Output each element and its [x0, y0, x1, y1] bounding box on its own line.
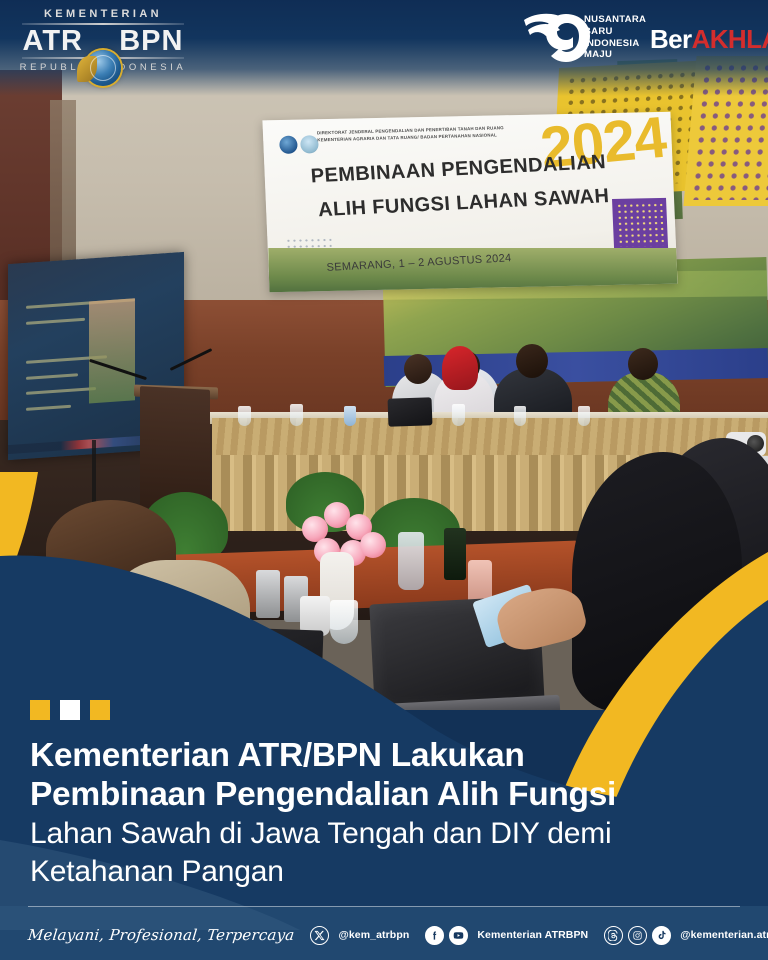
tiktok-icon[interactable]: [652, 926, 671, 945]
ministry-acronym-atr: ATR: [23, 25, 83, 57]
anniversary-line-1: BARU: [584, 26, 646, 38]
ministry-acronym: ATR .. BPN: [18, 26, 188, 56]
headline-light-line-2: Ketahanan Pangan: [30, 854, 730, 890]
anniversary-line-0: NUSANTARA: [584, 14, 646, 26]
berakhlak-ber: Ber: [650, 24, 692, 54]
event-photo: DIREKTORAT JENDERAL PENGENDALIAN DAN PEN…: [0, 0, 768, 710]
ministry-label-top: KEMENTERIAN: [18, 8, 188, 20]
marker-square-1: [30, 700, 50, 720]
event-banner: DIREKTORAT JENDERAL PENGENDALIAN DAN PEN…: [262, 112, 677, 292]
headline-bold-line-2: Pembinaan Pengendalian Alih Fungsi: [30, 775, 730, 814]
youtube-icon[interactable]: [449, 926, 468, 945]
anniversary-line-3: MAJU: [584, 49, 646, 61]
social-handle-threads[interactable]: @kementerian.atrbpn: [680, 929, 768, 941]
water-glass: [238, 406, 251, 426]
banner-secondary-logo-icon: [300, 135, 319, 153]
water-glass: [578, 406, 590, 426]
water-glass: [514, 406, 526, 426]
anniversary-79-icon: [520, 10, 592, 66]
headline-light-line-1: Lahan Sawah di Jawa Tengah dan DIY demi: [30, 816, 730, 852]
instagram-icon[interactable]: [628, 926, 647, 945]
water-glass: [452, 404, 465, 426]
panelist-1-head: [404, 354, 432, 384]
social-group-threads-instagram-tiktok: @kementerian.atrbpn: [604, 926, 768, 945]
carafe: [398, 532, 424, 590]
header-bar: KEMENTERIAN ATR .. BPN REPUBLIK INDONESI…: [0, 0, 768, 96]
atrbpn-globe-emblem-icon: [85, 50, 121, 86]
berakhlak-akhlak: AKHLAK: [692, 24, 768, 54]
marker-squares: [30, 700, 110, 720]
social-group-facebook-youtube: Kementerian ATRBPN: [425, 926, 588, 945]
x-twitter-icon[interactable]: [310, 926, 329, 945]
footer-bar: Melayani, Profesional, Terpercaya @kem_a…: [28, 918, 740, 952]
marker-square-3: [90, 700, 110, 720]
footer-divider: [28, 906, 740, 907]
berakhlak-logo: BerAKHLAK ➤: [650, 24, 768, 55]
bottle: [444, 528, 466, 580]
banner-title-line-1: PEMBINAAN PENGENDALIAN: [310, 151, 607, 188]
panelist-5-head: [628, 348, 658, 380]
headline-block: Kementerian ATR/BPN Lakukan Pembinaan Pe…: [30, 736, 730, 890]
anniversary-tagline: NUSANTARA BARU INDONESIA MAJU: [584, 14, 646, 61]
banner-emblem-icon: [279, 136, 298, 154]
poster-card: DIREKTORAT JENDERAL PENGENDALIAN DAN PEN…: [0, 0, 768, 960]
panelist-4-head: [516, 344, 548, 378]
marker-square-2: [60, 700, 80, 720]
threads-icon[interactable]: [604, 926, 623, 945]
secondary-laptop: [171, 625, 324, 710]
foreground-person-hijab: [572, 452, 742, 710]
anniversary-line-2: INDONESIA: [584, 38, 646, 50]
footer-tagline: Melayani, Profesional, Terpercaya: [27, 926, 295, 944]
thermos-flask: [256, 570, 280, 618]
social-handle-facebook-youtube[interactable]: Kementerian ATRBPN: [477, 929, 588, 941]
headline-bold-line-1: Kementerian ATR/BPN Lakukan: [30, 736, 730, 775]
facebook-icon[interactable]: [425, 926, 444, 945]
social-handle-x[interactable]: @kem_atrbpn: [338, 929, 409, 941]
water-glass: [344, 406, 356, 426]
goblet-glass: [330, 600, 358, 644]
water-glass: [290, 404, 303, 426]
ministry-acronym-bpn: BPN: [119, 25, 183, 57]
panelist-3-head: [442, 346, 478, 390]
banner-purple-block: [612, 198, 668, 251]
banner-title-line-2: ALIH FUNGSI LAHAN SAWAH: [317, 185, 610, 222]
social-group-x: @kem_atrbpn: [310, 926, 409, 945]
atrbpn-logo: KEMENTERIAN ATR .. BPN REPUBLIK INDONESI…: [18, 8, 188, 73]
panelist-laptop: [388, 397, 433, 427]
